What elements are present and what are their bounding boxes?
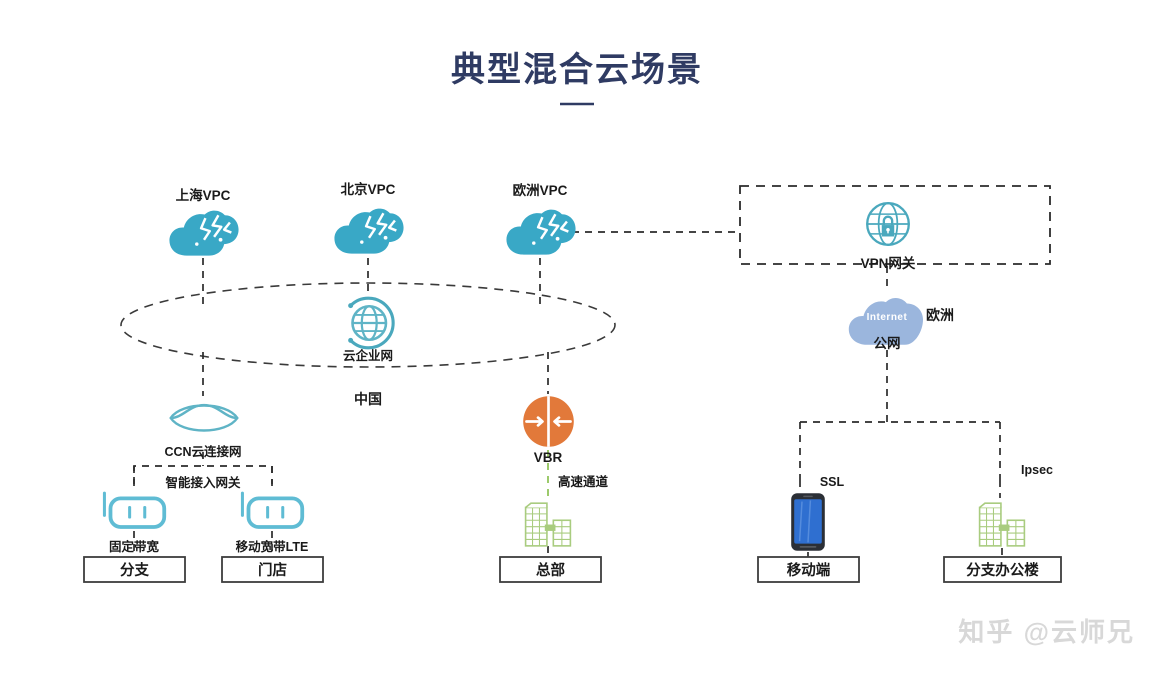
node-vpn-gateway[interactable]: VPN网关 [861, 203, 916, 271]
label-box-branch[interactable]: 分支 [84, 557, 185, 582]
smart-access-gateway-label: 智能接入网关 [164, 475, 241, 490]
globe-lock-icon [867, 203, 909, 245]
node-vpc-beijing[interactable]: 北京VPC [334, 181, 403, 254]
globe-ring-icon [348, 298, 393, 348]
vpn-gateway-label: VPN网关 [861, 255, 916, 271]
branch-label: 分支 [120, 561, 149, 579]
branch-office-label: 分支办公楼 [966, 561, 1039, 579]
label-box-mobile[interactable]: 移动端 [758, 557, 859, 582]
node-vpc-shanghai[interactable]: 上海VPC [169, 187, 238, 256]
internet-label: 公网 [874, 336, 901, 351]
internet-split-bracket [800, 422, 1000, 480]
watermark: 知乎 @云师兄 [958, 617, 1135, 647]
region-label-europe: 欧洲 [926, 307, 954, 323]
node-branch-router[interactable]: 固定带宽 [103, 492, 164, 554]
link-label-ssl: SSL [820, 475, 845, 489]
node-vpc-europe[interactable]: 欧洲VPC [506, 182, 575, 255]
internet-icon-text: Internet [867, 312, 908, 323]
region-label-china: 中国 [354, 391, 382, 407]
page-title: 典型混合云场景 [451, 51, 703, 89]
label-box-headquarters[interactable]: 总部 [500, 557, 601, 582]
node-branch-office[interactable] [980, 503, 1025, 546]
hybrid-cloud-architecture-diagram: 典型混合云场景 中国 [0, 0, 1154, 680]
smartphone-icon [791, 493, 825, 551]
router-icon [103, 492, 164, 527]
node-vbr[interactable]: VBR [523, 396, 574, 465]
link-label-fixed-bandwidth: 固定带宽 [109, 539, 160, 554]
cloud-vpc-icon [506, 210, 575, 255]
vbr-label: VBR [534, 450, 563, 465]
ccn-label: CCN云连接网 [164, 444, 241, 459]
router-icon [241, 492, 302, 527]
office-building-icon [526, 503, 571, 546]
link-label-express-connect: 高速通道 [558, 474, 609, 489]
cloud-vpc-icon [169, 211, 238, 256]
node-internet[interactable]: Internet 公网 [849, 298, 923, 351]
mobile-label: 移动端 [787, 561, 831, 579]
vpc-europe-label: 欧洲VPC [513, 182, 568, 198]
node-ccn[interactable]: CCN云连接网 [164, 405, 241, 459]
node-cloud-enterprise-network[interactable]: 云企业网 [343, 298, 393, 363]
node-mobile-client[interactable] [791, 493, 825, 551]
link-label-mobile-lte: 移动宽带LTE [236, 539, 309, 554]
node-store-router[interactable]: 移动宽带LTE [236, 492, 309, 554]
cloud-vpc-icon [334, 209, 403, 254]
store-label: 门店 [258, 561, 287, 579]
headquarters-label: 总部 [536, 561, 565, 579]
vpc-shanghai-label: 上海VPC [176, 187, 231, 203]
lens-network-icon [171, 405, 238, 431]
cen-label: 云企业网 [343, 348, 393, 363]
link-label-ipsec: Ipsec [1021, 463, 1053, 477]
office-building-icon [980, 503, 1025, 546]
vbr-circle-icon [523, 396, 574, 447]
vpc-beijing-label: 北京VPC [341, 181, 396, 197]
label-box-store[interactable]: 门店 [222, 557, 323, 582]
node-headquarters[interactable] [526, 503, 571, 546]
label-box-branch-office[interactable]: 分支办公楼 [944, 557, 1061, 582]
